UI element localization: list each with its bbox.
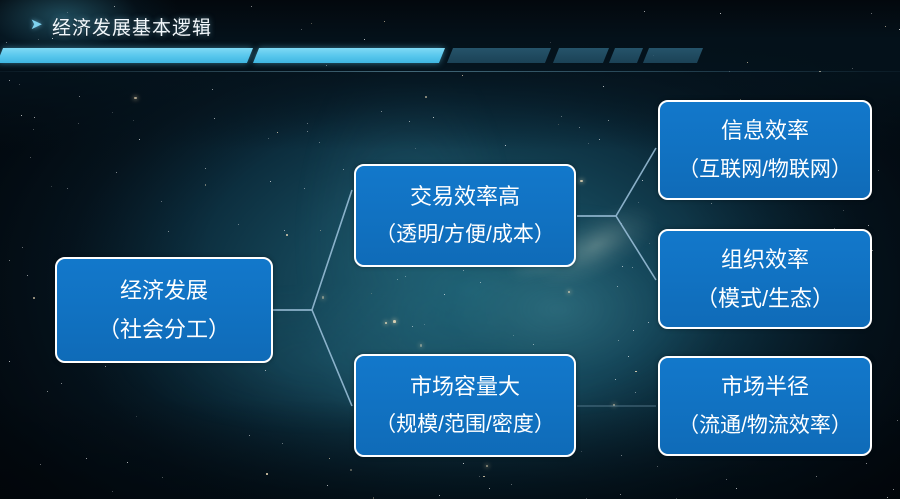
star — [78, 123, 79, 124]
star — [162, 477, 163, 478]
header-hairline-divider — [0, 71, 900, 72]
star — [632, 267, 633, 268]
deco-bar-dim-2 — [553, 48, 609, 63]
star — [420, 344, 423, 347]
star — [79, 96, 80, 97]
star — [620, 494, 621, 495]
page-title: 经济发展基本逻辑 — [52, 13, 212, 40]
star — [329, 458, 331, 460]
star — [405, 276, 406, 277]
star — [433, 117, 434, 118]
slide-header: ➤ 经济发展基本逻辑 — [0, 0, 900, 72]
star — [711, 203, 712, 204]
star — [621, 455, 622, 456]
star — [21, 115, 22, 116]
star — [463, 270, 464, 271]
star — [381, 111, 382, 112]
star — [33, 297, 35, 299]
star — [581, 451, 582, 452]
star — [615, 379, 616, 380]
node-title: 信息效率 — [721, 119, 809, 142]
deco-bar-bright-2 — [253, 48, 445, 63]
star — [580, 180, 583, 183]
star — [633, 330, 634, 331]
star — [139, 139, 140, 140]
star — [618, 340, 619, 341]
star — [205, 184, 207, 186]
star — [628, 356, 629, 357]
star — [134, 97, 137, 100]
star — [268, 138, 269, 139]
node-subtitle: （社会分工） — [98, 318, 230, 341]
star — [409, 121, 410, 122]
star — [205, 168, 206, 169]
star — [286, 234, 288, 236]
star — [9, 260, 10, 261]
star — [327, 485, 328, 486]
star — [277, 132, 278, 133]
star — [265, 370, 266, 371]
star — [533, 344, 534, 345]
star — [249, 435, 250, 436]
star — [479, 476, 480, 477]
star — [726, 479, 727, 480]
star — [511, 484, 512, 485]
star — [343, 169, 344, 170]
star — [843, 210, 844, 211]
star — [19, 84, 20, 85]
star — [282, 443, 283, 444]
star — [513, 335, 514, 336]
star — [51, 186, 52, 187]
star — [33, 129, 34, 130]
star — [266, 473, 268, 475]
star — [897, 420, 898, 421]
connector-main-to-trade — [273, 190, 352, 310]
node-subtitle: （透明/方便/成本） — [375, 224, 555, 246]
star — [444, 294, 445, 295]
star — [638, 202, 639, 203]
star — [112, 491, 113, 492]
node-title: 组织效率 — [721, 248, 809, 271]
node-market-capacity[interactable]: 市场容量大 （规模/范围/密度） — [354, 354, 576, 457]
star — [642, 180, 643, 181]
deco-bar-dim-1 — [447, 48, 551, 63]
star — [61, 383, 62, 384]
star — [816, 476, 817, 477]
node-title: 经济发展 — [120, 279, 208, 302]
star — [893, 489, 894, 490]
star — [635, 392, 636, 393]
star — [480, 282, 481, 283]
star — [424, 324, 425, 325]
star — [371, 293, 372, 294]
star — [483, 476, 485, 478]
star — [648, 322, 649, 323]
node-title: 交易效率高 — [410, 185, 520, 208]
star — [425, 96, 427, 98]
star — [105, 366, 106, 367]
star — [657, 466, 658, 467]
star — [30, 157, 31, 158]
star — [393, 320, 396, 323]
slide-canvas: ➤ 经济发展基本逻辑 经济发展 （社会分工） 交易效率高 （透明/方便/成本） … — [0, 0, 900, 499]
deco-bar-dim-4 — [643, 48, 703, 63]
star — [621, 223, 622, 224]
star — [635, 371, 637, 373]
star — [887, 497, 888, 498]
star — [9, 361, 10, 362]
connector-main-to-market — [273, 310, 352, 406]
star — [558, 124, 559, 125]
star — [588, 143, 589, 144]
star — [320, 230, 321, 231]
star — [284, 230, 285, 231]
star — [462, 75, 464, 77]
star — [603, 86, 604, 87]
star — [649, 243, 650, 244]
star — [622, 266, 623, 267]
star — [415, 148, 416, 149]
star — [238, 224, 239, 225]
star — [86, 458, 87, 459]
star — [214, 118, 215, 119]
star — [133, 120, 134, 121]
node-economic-development[interactable]: 经济发展 （社会分工） — [55, 257, 273, 363]
star — [9, 80, 10, 81]
node-information-efficiency[interactable]: 信息效率 （互联网/物联网） — [658, 100, 872, 200]
star — [319, 142, 320, 143]
star — [34, 117, 35, 118]
star — [161, 201, 162, 202]
star — [270, 181, 271, 182]
star — [47, 391, 48, 392]
star — [608, 120, 609, 121]
star — [116, 172, 117, 173]
star — [486, 465, 489, 468]
node-title: 市场半径 — [721, 375, 809, 398]
node-subtitle: （模式/生态） — [696, 287, 834, 310]
deco-bar-bright-1 — [0, 48, 253, 63]
star — [599, 139, 600, 140]
node-title: 市场容量大 — [410, 375, 520, 398]
star — [579, 127, 580, 128]
star — [304, 188, 305, 189]
node-market-radius[interactable]: 市场半径 （流通/物流效率） — [658, 356, 872, 456]
star — [568, 291, 571, 294]
star — [385, 322, 388, 325]
star — [136, 416, 137, 417]
node-subtitle: （流通/物流效率） — [678, 415, 852, 437]
star — [307, 131, 308, 132]
star — [463, 463, 464, 464]
star — [866, 463, 867, 464]
star — [168, 231, 169, 232]
star — [212, 89, 213, 90]
star — [868, 225, 869, 226]
star — [736, 488, 737, 489]
node-subtitle: （规模/范围/密度） — [375, 414, 555, 436]
star — [613, 404, 616, 407]
star — [322, 296, 325, 299]
star — [489, 488, 490, 489]
star — [27, 275, 28, 276]
star — [397, 279, 398, 280]
star — [307, 123, 308, 124]
node-transaction-efficiency[interactable]: 交易效率高 （透明/方便/成本） — [354, 164, 576, 267]
connector-trade-to-info — [577, 148, 656, 216]
arrow-right-icon: ➤ — [30, 18, 46, 32]
node-subtitle: （互联网/物联网） — [678, 159, 852, 181]
node-organization-efficiency[interactable]: 组织效率 （模式/生态） — [658, 229, 872, 329]
star — [40, 464, 41, 465]
star — [878, 170, 879, 171]
star — [412, 326, 413, 327]
star — [505, 145, 506, 146]
connector-trade-to-org — [577, 216, 656, 280]
star — [561, 116, 562, 117]
deco-bar-dim-3 — [609, 48, 643, 63]
star — [617, 286, 618, 287]
star — [127, 462, 128, 463]
star — [350, 469, 352, 471]
star — [67, 188, 68, 189]
star — [439, 495, 440, 496]
star — [22, 247, 23, 248]
star — [112, 112, 113, 113]
